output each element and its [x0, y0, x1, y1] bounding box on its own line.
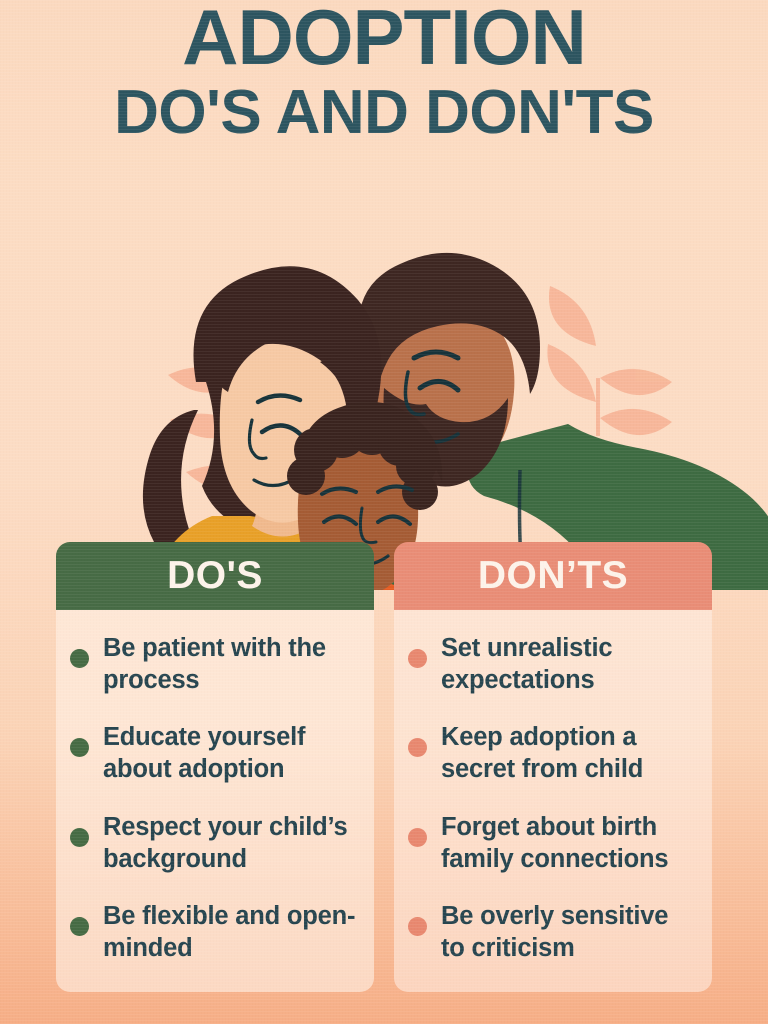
list-item-label: Keep adoption a secret from child	[441, 721, 696, 785]
lists-container: DO'S Be patient with the process Educate…	[0, 542, 768, 992]
title-line-two: DO'S AND DON'TS	[0, 82, 768, 144]
bullet-dot-icon	[70, 917, 89, 936]
bullet-dot-icon	[70, 828, 89, 847]
list-item-label: Be patient with the process	[103, 632, 358, 696]
list-item: Be patient with the process	[70, 632, 358, 696]
list-item: Forget about birth family connections	[408, 811, 696, 875]
list-item-label: Set unrealistic expectations	[441, 632, 696, 696]
poster-title: ADOPTION DO'S AND DON'TS	[0, 0, 768, 144]
donts-card-body: Set unrealistic expectations Keep adopti…	[394, 610, 712, 992]
dos-card: DO'S Be patient with the process Educate…	[56, 542, 374, 992]
list-item: Be flexible and open-minded	[70, 900, 358, 964]
donts-list: Set unrealistic expectations Keep adopti…	[408, 632, 696, 964]
poster-root: ADOPTION DO'S AND DON'TS DO'S Be patient…	[0, 0, 768, 1024]
bullet-dot-icon	[408, 828, 427, 847]
bullet-dot-icon	[70, 738, 89, 757]
list-item: Set unrealistic expectations	[408, 632, 696, 696]
list-item-label: Respect your child’s background	[103, 811, 358, 875]
list-item-label: Forget about birth family connections	[441, 811, 696, 875]
list-item: Keep adoption a secret from child	[408, 721, 696, 785]
dos-card-body: Be patient with the process Educate your…	[56, 610, 374, 992]
list-item: Be overly sensitive to criticism	[408, 900, 696, 964]
bullet-dot-icon	[408, 738, 427, 757]
title-line-one: ADOPTION	[0, 2, 768, 74]
dos-card-header: DO'S	[56, 542, 374, 610]
dos-list: Be patient with the process Educate your…	[70, 632, 358, 964]
list-item: Educate yourself about adoption	[70, 721, 358, 785]
list-item-label: Be flexible and open-minded	[103, 900, 358, 964]
list-item: Respect your child’s background	[70, 811, 358, 875]
family-embrace-illustration	[0, 150, 768, 590]
bullet-dot-icon	[408, 649, 427, 668]
donts-card-header: DON’TS	[394, 542, 712, 610]
list-item-label: Educate yourself about adoption	[103, 721, 358, 785]
bullet-dot-icon	[70, 649, 89, 668]
donts-card: DON’TS Set unrealistic expectations Keep…	[394, 542, 712, 992]
bullet-dot-icon	[408, 917, 427, 936]
list-item-label: Be overly sensitive to criticism	[441, 900, 696, 964]
